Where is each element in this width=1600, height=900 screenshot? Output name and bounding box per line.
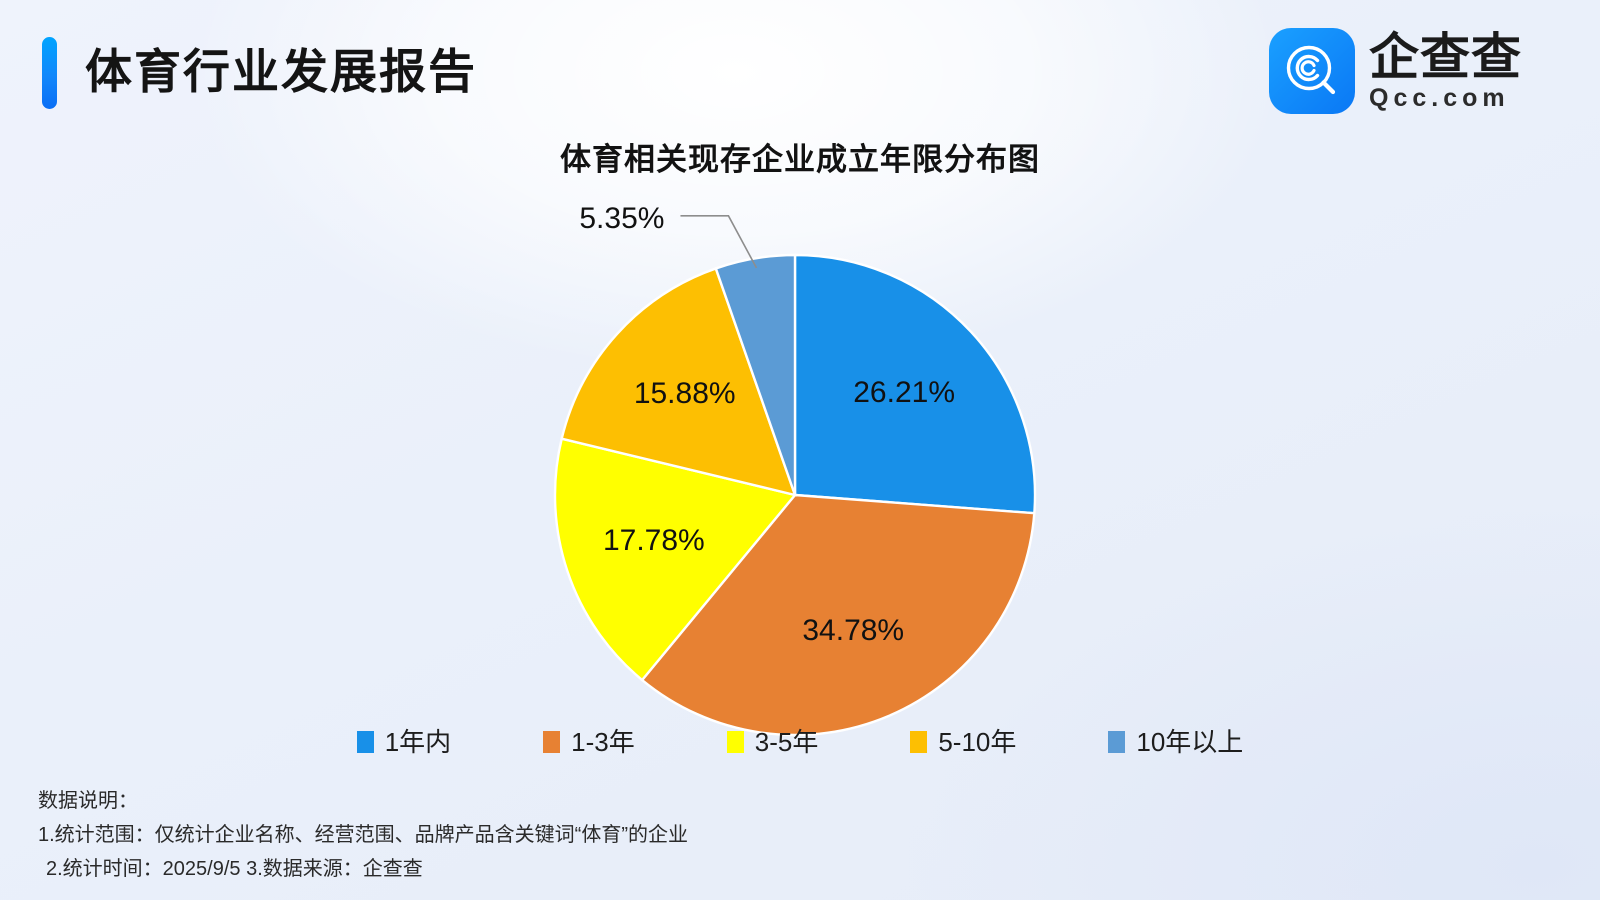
title-accent-bar — [42, 37, 57, 109]
pie-slice-value-label: 26.21% — [853, 376, 955, 409]
legend-swatch-icon — [727, 731, 744, 753]
pie-chart: 26.21%34.78%17.78%15.88%5.35% — [0, 180, 1600, 740]
brand-text: 企查查 Qcc.com — [1369, 31, 1522, 112]
page-title: 体育行业发展报告 — [85, 36, 477, 108]
legend-item-label: 10年以上 — [1136, 728, 1243, 756]
brand-name-en: Qcc.com — [1369, 84, 1522, 112]
pie-slice-group — [555, 255, 1035, 735]
legend-item[interactable]: 1-3年 — [543, 728, 635, 756]
legend-item-label: 1-3年 — [571, 728, 635, 756]
notes-line-scope: 1.统计范围：仅统计企业名称、经营范围、品牌产品含关键词“体育”的企业 — [38, 818, 1138, 852]
legend-swatch-icon — [357, 731, 374, 753]
legend-item[interactable]: 10年以上 — [1108, 728, 1243, 756]
legend-swatch-icon — [1108, 731, 1125, 753]
qcc-search-logo-icon — [1269, 28, 1355, 114]
page-header: 体育行业发展报告 企查查 Qcc.com — [0, 0, 1600, 130]
pie-slice-value-label: 17.78% — [603, 524, 705, 557]
legend-swatch-icon — [910, 731, 927, 753]
chart-title: 体育相关现存企业成立年限分布图 — [0, 134, 1600, 179]
pie-slice-value-label: 34.78% — [802, 614, 904, 647]
legend-swatch-icon — [543, 731, 560, 753]
chart-legend: 1年内1-3年3-5年5-10年10年以上 — [0, 728, 1600, 756]
report-page: 体育行业发展报告 企查查 Qcc.com 体育相关现存企业成立年限分布图 26.… — [0, 0, 1600, 900]
legend-item-label: 1年内 — [385, 728, 451, 756]
notes-line-time-source: 2.统计时间：2025/9/5 3.数据来源：企查查 — [38, 852, 1138, 886]
data-notes: 数据说明： 1.统计范围：仅统计企业名称、经营范围、品牌产品含关键词“体育”的企… — [38, 784, 1138, 886]
brand-logo: 企查查 Qcc.com — [1269, 28, 1522, 114]
notes-heading: 数据说明： — [38, 784, 1138, 818]
legend-item[interactable]: 5-10年 — [910, 728, 1016, 756]
legend-item[interactable]: 1年内 — [357, 728, 451, 756]
legend-item-label: 3-5年 — [755, 728, 819, 756]
pie-slice-value-label: 15.88% — [634, 377, 736, 410]
pie-slice-value-label: 5.35% — [579, 202, 664, 235]
brand-name-cn: 企查查 — [1369, 31, 1522, 83]
legend-item-label: 5-10年 — [938, 728, 1016, 756]
legend-item[interactable]: 3-5年 — [727, 728, 819, 756]
